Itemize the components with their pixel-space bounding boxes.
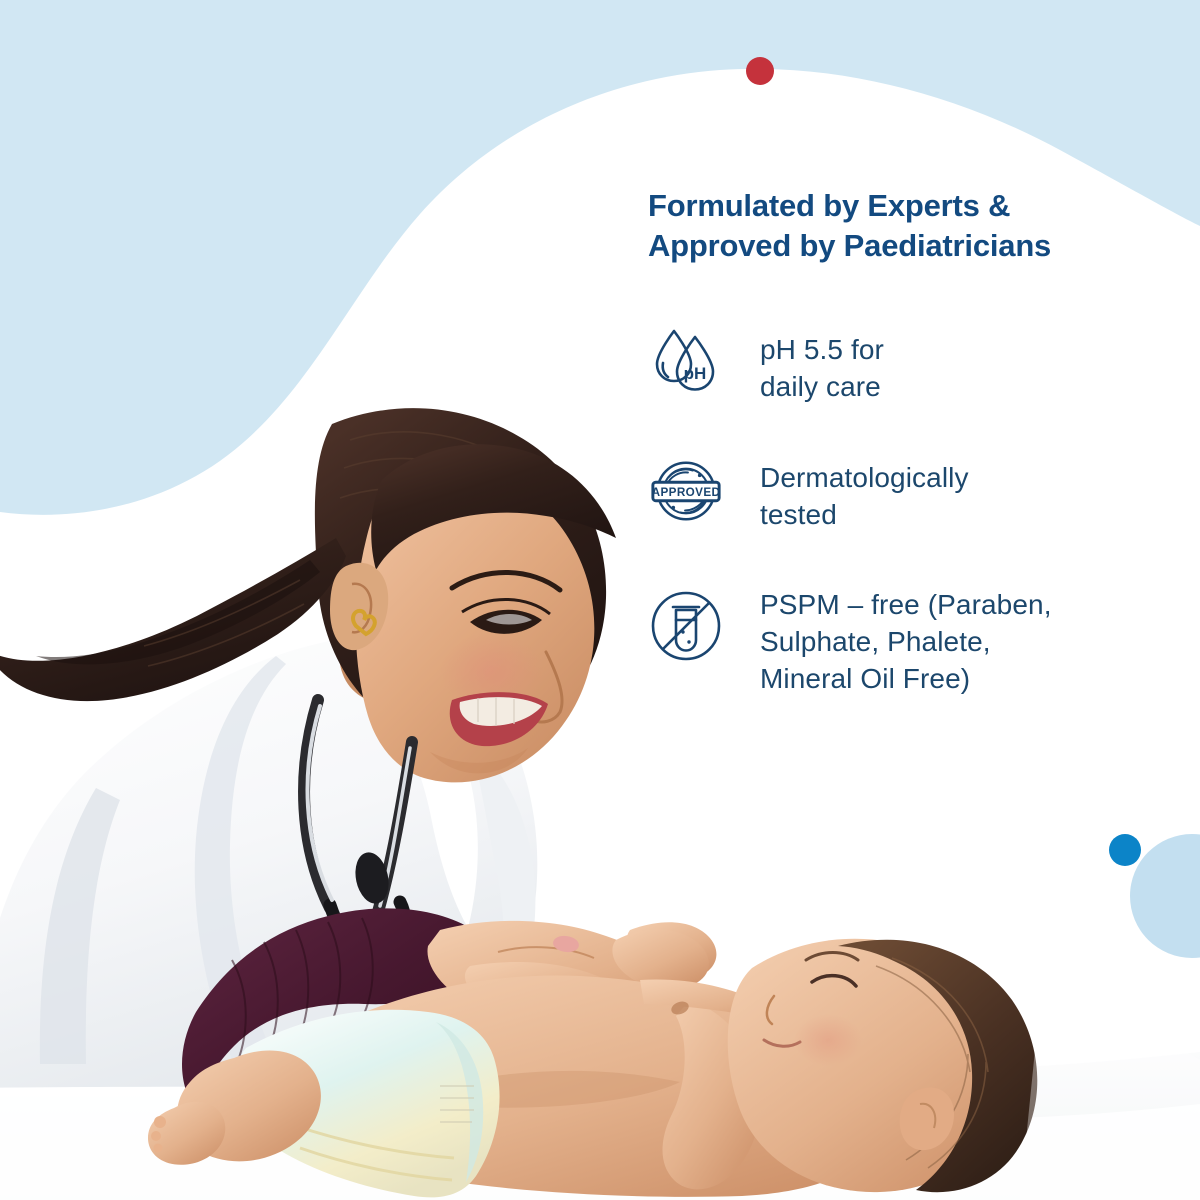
feature-label-dermatologically-tested: Dermatologically tested: [724, 453, 969, 533]
ph-icon-label: pH: [684, 364, 707, 383]
approved-stamp-icon: APPROVED: [648, 453, 724, 527]
feature-label-ph: pH 5.5 for daily care: [724, 321, 884, 405]
blue-accent-dot: [1109, 834, 1141, 866]
feature-item-dermatologically-tested: APPROVED Dermatologically tested: [648, 453, 1168, 533]
promo-banner: Formulated by Experts & Approved by Paed…: [0, 0, 1200, 1200]
feature-item-pspm-free: PSPM – free (Paraben, Sulphate, Phalete,…: [648, 586, 1168, 698]
page-title: Formulated by Experts & Approved by Paed…: [648, 186, 1168, 267]
red-accent-dot: [746, 57, 774, 85]
no-test-tube-icon: [648, 586, 724, 664]
feature-label-pspm-free: PSPM – free (Paraben, Sulphate, Phalete,…: [724, 586, 1052, 698]
ph-droplet-icon: pH: [648, 321, 724, 397]
approved-icon-label: APPROVED: [652, 486, 721, 499]
feature-content: Formulated by Experts & Approved by Paed…: [648, 186, 1168, 697]
feature-item-ph: pH pH 5.5 for daily care: [648, 321, 1168, 405]
